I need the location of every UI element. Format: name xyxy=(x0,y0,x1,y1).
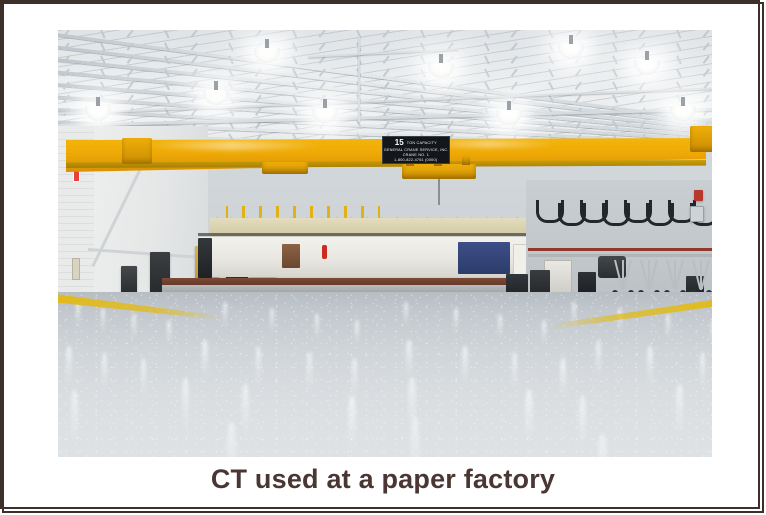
joist-web-member xyxy=(484,43,489,52)
joist-web-member xyxy=(612,30,617,39)
joist-web-member xyxy=(639,95,646,103)
joist-web-member xyxy=(703,95,710,103)
crane-sign-capacity-row: 15 TON CAPACITY xyxy=(395,139,438,147)
joist-web-member xyxy=(612,95,618,104)
light-reflection-streak xyxy=(66,346,72,386)
left-wall-safety-sign-2 xyxy=(72,258,80,280)
joist-web-member xyxy=(100,30,105,39)
joist-web-member xyxy=(292,30,297,39)
joist-web-member xyxy=(292,43,297,52)
joist-web-member xyxy=(292,56,297,65)
light-reflection-streak xyxy=(711,320,712,346)
joist-web-member xyxy=(612,69,617,78)
light-reflection-streak xyxy=(102,352,108,392)
light-reflection-streak xyxy=(406,340,412,380)
joist-web-member xyxy=(191,43,198,51)
joist-web-member xyxy=(484,56,489,65)
figure-caption: CT used at a paper factory xyxy=(4,464,762,495)
joist-web-member xyxy=(254,30,261,37)
joist-web-member xyxy=(127,69,134,77)
light-reflection-streak xyxy=(525,390,532,444)
frame-border-top xyxy=(2,2,764,4)
light-reflection-streak xyxy=(202,340,208,380)
figure-frame: 15 TON CAPACITY GENERAL CRANE SERVICE, I… xyxy=(0,0,760,509)
crane-girder-highlight xyxy=(143,141,322,150)
joist-web-member xyxy=(510,30,517,37)
light-reflection-streak xyxy=(315,314,319,340)
light-reflection-streak xyxy=(132,314,136,340)
joist-web-member xyxy=(382,30,389,37)
joist-web-member xyxy=(676,30,681,39)
machine-panel-brown xyxy=(282,244,300,268)
joist-web-member xyxy=(638,30,645,37)
joist-web-member xyxy=(511,82,518,90)
light-reflection-streak xyxy=(182,378,189,432)
joist-web-member xyxy=(612,56,617,65)
frame-border-bottom xyxy=(2,511,764,513)
ceiling-conduit-vertical xyxy=(358,36,360,122)
crane-hook-line xyxy=(438,179,440,205)
light-reflection-streak xyxy=(348,396,355,450)
joist-web-member xyxy=(703,43,710,51)
joist-web-member xyxy=(420,69,425,78)
machine-indicator-red xyxy=(322,245,327,259)
joist-web-member xyxy=(639,82,646,90)
light-reflection-streak xyxy=(404,302,408,328)
right-wall-sign xyxy=(690,206,704,222)
crane-capacity-sign: 15 TON CAPACITY GENERAL CRANE SERVICE, I… xyxy=(382,136,450,164)
light-reflection-streak xyxy=(512,352,518,392)
crane-hoist-bracket-c xyxy=(462,155,470,165)
light-reflection-streak xyxy=(167,320,171,346)
light-reflection-streak xyxy=(579,396,586,450)
light-reflection-streak xyxy=(454,308,458,334)
frame-border-left xyxy=(2,2,4,513)
joist-web-member xyxy=(548,82,554,91)
joist-web-member xyxy=(511,43,518,51)
joist-web-member xyxy=(612,43,617,52)
light-reflection-streak xyxy=(676,384,683,438)
joist-web-member xyxy=(702,30,709,37)
joist-web-member xyxy=(511,56,518,64)
light-reflection-streak xyxy=(647,346,653,386)
light-reflection-streak xyxy=(71,390,78,444)
joist-web-member xyxy=(548,56,553,65)
joist-web-member xyxy=(676,56,681,65)
light-reflection-streak xyxy=(462,346,468,386)
crane-hoist-main xyxy=(402,164,476,179)
joist-web-member xyxy=(318,30,325,37)
light-reflection-streak xyxy=(270,308,274,334)
crane-end-truck-right xyxy=(690,126,712,152)
waste-bin-left xyxy=(121,266,137,294)
joist-web-member xyxy=(484,69,489,78)
joist-web-member xyxy=(420,56,425,65)
crane-sign-line-4: 1-800-822-4761 (0000) xyxy=(394,157,437,162)
joist-web-member xyxy=(228,43,233,52)
crane-sign-capacity-number: 15 xyxy=(395,139,404,147)
light-reflection-streak xyxy=(560,358,566,398)
joist-web-member xyxy=(420,30,425,39)
light-reflection-streak xyxy=(223,302,227,328)
joist-web-member xyxy=(676,43,681,52)
joist-web-member xyxy=(511,69,518,77)
joist-web-member xyxy=(484,30,489,39)
joist-web-member xyxy=(548,69,553,78)
joist-web-member xyxy=(126,30,133,37)
red-pipe-run xyxy=(528,248,712,251)
crane-trolley-left xyxy=(262,162,308,174)
machine-panel-left-dark xyxy=(198,238,212,278)
joist-web-member xyxy=(383,43,390,51)
light-reflection-streak xyxy=(101,308,105,334)
light-reflection-streak xyxy=(598,434,607,457)
crane-sign-line-3: CRANE NO. 1 xyxy=(403,152,429,157)
joist-web-member xyxy=(703,69,710,77)
joist-web-member xyxy=(574,30,581,37)
joist-web-member xyxy=(164,30,169,39)
joist-web-member xyxy=(548,30,553,39)
light-reflection-streak xyxy=(666,314,670,340)
joist-web-member xyxy=(383,69,390,77)
joist-web-member xyxy=(676,69,681,78)
crane-sign-line-2: GENERAL CRANE SERVICE, INC. xyxy=(384,147,449,152)
joist-web-member xyxy=(548,43,553,52)
light-reflection-streak xyxy=(307,352,313,392)
light-reflection-streak xyxy=(76,302,80,328)
light-reflection-streak xyxy=(618,308,622,334)
joist-web-member xyxy=(383,56,390,64)
machine-panel-blue xyxy=(458,242,510,274)
factory-photo: 15 TON CAPACITY GENERAL CRANE SERVICE, I… xyxy=(58,30,712,457)
joist-web-member xyxy=(319,43,326,51)
joist-web-member xyxy=(703,56,710,64)
frame-border-right xyxy=(762,2,764,513)
joist-web-member xyxy=(612,82,618,91)
light-reflection-streak xyxy=(498,314,502,340)
overhead-bridge-crane: 15 TON CAPACITY GENERAL CRANE SERVICE, I… xyxy=(66,138,706,184)
light-reflection-streak xyxy=(542,320,546,346)
joist-web-member xyxy=(228,30,233,39)
joist-web-member xyxy=(446,30,453,37)
light-reflection-streak xyxy=(242,384,249,438)
joist-web-member xyxy=(639,43,646,51)
right-wall-red-sign xyxy=(694,190,703,201)
joist-web-member xyxy=(575,82,582,90)
joist-web-member xyxy=(190,30,197,37)
joist-web-member xyxy=(575,69,582,77)
crane-sign-capacity-unit: TON CAPACITY xyxy=(406,140,436,145)
crane-end-truck-left xyxy=(122,138,152,164)
